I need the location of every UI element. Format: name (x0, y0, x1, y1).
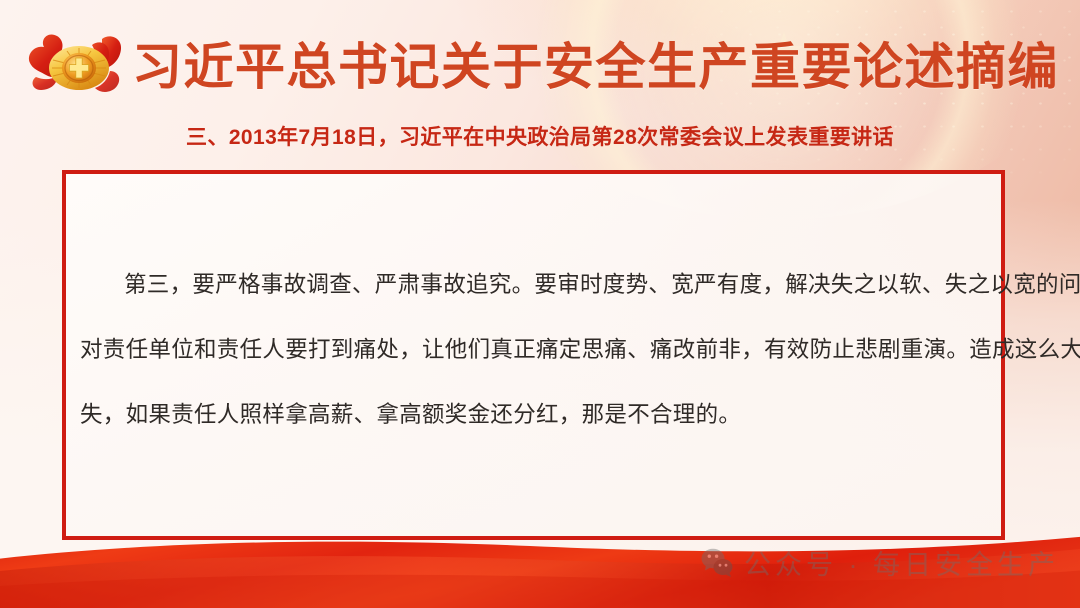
quote-line: 第三，要严格事故调查、严肃事故追究。要审时度势、宽严有度，解决失之以软、失之以宽… (80, 252, 979, 317)
page-title: 习近平总书记关于安全生产重要论述摘编 (132, 38, 1059, 96)
presentation-slide: 习近平总书记关于安全生产重要论述摘编 三、2013年7月18日，习近平在中央政治… (0, 0, 1080, 608)
safety-production-emblem-icon (24, 27, 134, 105)
wechat-watermark: 公众号 · 每日安全生产 (700, 543, 1059, 582)
quote-content-box: 第三，要严格事故调查、严肃事故追究。要审时度势、宽严有度，解决失之以软、失之以宽… (62, 170, 1005, 540)
quote-text-body: 第三，要严格事故调查、严肃事故追究。要审时度势、宽严有度，解决失之以软、失之以宽… (66, 252, 1001, 447)
slide-subtitle: 三、2013年7月18日，习近平在中央政治局第28次常委会议上发表重要讲话 (0, 124, 1080, 152)
quote-line: 失，如果责任人照样拿高薪、拿高额奖金还分红，那是不合理的。 (80, 382, 979, 447)
quote-line: 对责任单位和责任人要打到痛处，让他们真正痛定思痛、痛改前非，有效防止悲剧重演。造… (80, 317, 979, 382)
watermark-text: 公众号 · 每日安全生产 (744, 543, 1059, 582)
wechat-icon (700, 546, 734, 580)
slide-header: 习近平总书记关于安全生产重要论述摘编 (0, 0, 1080, 118)
